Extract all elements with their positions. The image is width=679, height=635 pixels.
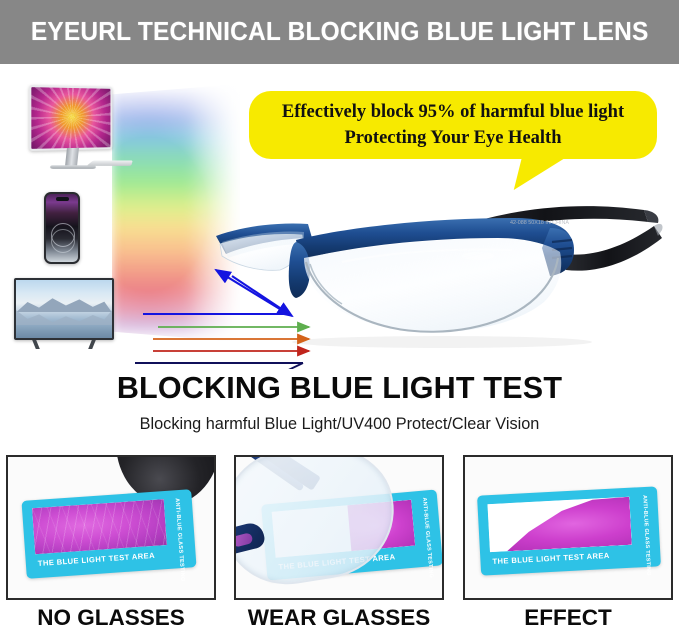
panel-effect-photo: THE BLUE LIGHT TEST AREA ANTI-BLUE GLASS… <box>465 457 671 598</box>
imac-wallpaper <box>31 87 110 149</box>
test-window-1 <box>32 499 167 554</box>
navy-ray-reflected-lower <box>232 363 303 369</box>
panel-no-glasses-photo: THE BLUE LIGHT TEST AREA ANTI-BLUE GLASS… <box>8 457 214 598</box>
imac-keyboard <box>86 161 132 166</box>
smartphone-icon <box>44 192 80 264</box>
product-infographic: EYEURL TECHNICAL BLOCKING BLUE LIGHT LEN… <box>0 0 679 635</box>
test-card-1: THE BLUE LIGHT TEST AREA ANTI-BLUE GLASS… <box>21 489 196 579</box>
page-title: EYEURL TECHNICAL BLOCKING BLUE LIGHT LEN… <box>31 18 649 47</box>
glow-area-1 <box>32 499 167 554</box>
bubble-line-2: Protecting Your Eye Health <box>344 125 561 151</box>
card-bottom-text-1: THE BLUE LIGHT TEST AREA <box>38 551 156 568</box>
tv-wallpaper <box>16 280 112 338</box>
card-side-text-3: ANTI-BLUE GLASS TESTING <box>641 495 651 576</box>
tv-mountain-range <box>16 295 112 312</box>
panel-effect: THE BLUE LIGHT TEST AREA ANTI-BLUE GLASS… <box>463 455 673 600</box>
phone-notch <box>56 197 69 201</box>
section-title: BLOCKING BLUE LIGHT TEST <box>0 372 679 406</box>
phone-body <box>44 192 80 264</box>
card-side-text-2: ANTI-BLUE GLASS TESTING <box>421 497 434 578</box>
test-card-3: THE BLUE LIGHT TEST AREA ANTI-BLUE GLASS… <box>477 486 661 575</box>
hero-section: Effectively block 95% of harmful blue li… <box>0 64 679 369</box>
tv-bezel <box>14 278 114 340</box>
tv-stand <box>32 340 96 349</box>
speech-bubble: Effectively block 95% of harmful blue li… <box>249 91 657 159</box>
caption-no-glasses: NO GLASSES <box>6 605 216 631</box>
television-icon <box>14 278 114 350</box>
glasses-product-image: 42-088 50X18 IN CHINA <box>192 192 664 348</box>
card-side-text-1: ANTI-BLUE GLASS TESTING <box>174 498 186 582</box>
panel-wear-glasses-photo: THE BLUE LIGHT TEST AREA ANTI-BLUE GLASS… <box>236 457 442 598</box>
temple-arm-near <box>564 226 662 271</box>
section-subtitle: Blocking harmful Blue Light/UV400 Protec… <box>0 415 679 434</box>
caption-wear-glasses: WEAR GLASSES <box>234 605 444 631</box>
bubble-line-1: Effectively block 95% of harmful blue li… <box>282 99 624 125</box>
lens-right <box>304 239 561 332</box>
test-panels: THE BLUE LIGHT TEST AREA ANTI-BLUE GLASS… <box>0 455 679 635</box>
speech-bubble-tail <box>514 156 568 190</box>
panel-wear-glasses: THE BLUE LIGHT TEST AREA ANTI-BLUE GLASS… <box>234 455 444 600</box>
mid-text-block: BLOCKING BLUE LIGHT TEST Blocking harmfu… <box>0 372 679 434</box>
desktop-computer-icon <box>22 86 120 178</box>
temple-engraving: 42-088 50X18 IN CHINA <box>510 220 569 226</box>
panel-no-glasses: THE BLUE LIGHT TEST AREA ANTI-BLUE GLASS… <box>6 455 216 600</box>
header-bar: EYEURL TECHNICAL BLOCKING BLUE LIGHT LEN… <box>0 0 679 64</box>
caption-effect: EFFECT <box>463 605 673 631</box>
imac-stand-neck <box>65 148 79 166</box>
phone-screen <box>46 194 78 262</box>
test-window-3 <box>487 497 631 552</box>
imac-screen <box>29 85 112 151</box>
glasses-lens-overlay-2 <box>236 457 403 594</box>
card-bottom-text-3: THE BLUE LIGHT TEST AREA <box>492 551 610 566</box>
